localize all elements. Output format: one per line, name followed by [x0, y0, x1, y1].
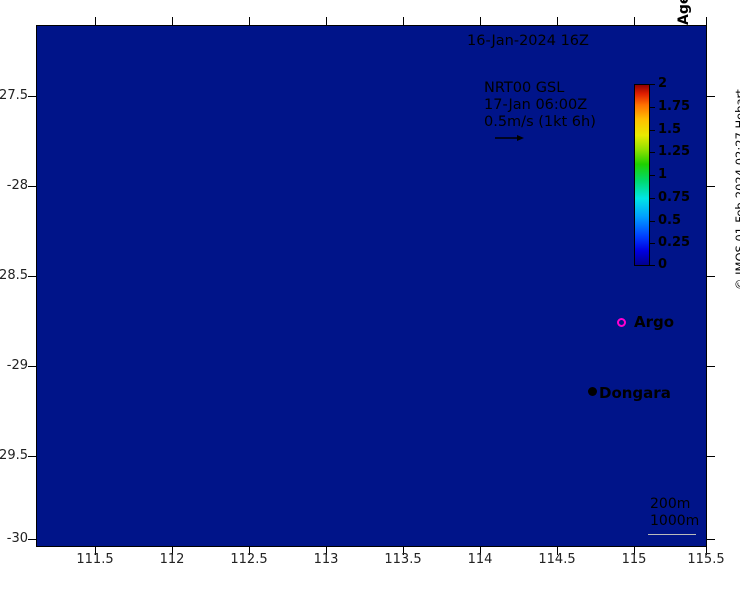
y-tick-right [707, 366, 715, 367]
x-axis-label-6: 114.5 [522, 553, 592, 566]
colorbar-tick [650, 265, 655, 266]
x-axis-label-2: 112.5 [214, 553, 284, 566]
y-axis-label-1: -28 [0, 179, 28, 192]
depth-contour-underline [648, 534, 696, 535]
y-axis-label-4: -29.5 [0, 449, 28, 462]
colorbar-label-0p75: 0.75 [658, 191, 690, 204]
y-tick [28, 366, 36, 367]
y-axis-label-3: -29 [0, 359, 28, 372]
map-plot-area[interactable] [36, 25, 707, 547]
colorbar-tick [650, 221, 655, 222]
colorbar-label-2: 2 [658, 77, 667, 90]
colorbar-label-1: 1 [658, 168, 667, 181]
colorbar-label-0p25: 0.25 [658, 236, 690, 249]
argo-label: Argo [634, 313, 674, 331]
x-axis-label-3: 113 [291, 553, 361, 566]
x-tick-top [557, 17, 558, 25]
y-tick-right [707, 186, 715, 187]
colorbar-tick [650, 198, 655, 199]
x-axis-label-5: 114 [445, 553, 515, 566]
colorbar-label-1p75: 1.75 [658, 100, 690, 113]
colorbar-tick [650, 84, 655, 85]
observation-datetime-label: 16-Jan-2024 16Z [467, 33, 589, 50]
dongara-label: Dongara [599, 384, 671, 402]
colorbar-tick [650, 152, 655, 153]
colorbar-label-0: 0 [658, 258, 667, 271]
x-tick-top [95, 17, 96, 25]
credit-text: © IMOS 01-Feb-2024 02:27 Hobart [733, 89, 740, 290]
x-axis-label-4: 113.5 [368, 553, 438, 566]
y-tick-right [707, 456, 715, 457]
colorbar-gradient [634, 84, 650, 266]
y-tick [28, 539, 36, 540]
argo-marker-icon[interactable] [617, 318, 626, 327]
y-tick-right [707, 276, 715, 277]
y-axis-label-5: -30 [0, 532, 28, 545]
colorbar-label-1p5: 1.5 [658, 123, 681, 136]
y-tick-right [707, 96, 715, 97]
y-axis-label-2: -28.5 [0, 269, 28, 282]
colorbar-title: Age (days) of filled SST (wrt latest) [676, 0, 692, 25]
x-tick-top [480, 17, 481, 25]
colorbar-tick [650, 243, 655, 244]
reference-vector-arrow-icon [494, 132, 524, 144]
x-tick-top [326, 17, 327, 25]
depth-contour-key: 200m 1000m [650, 496, 699, 529]
colorbar-label-1p25: 1.25 [658, 145, 690, 158]
colorbar-tick [650, 107, 655, 108]
x-tick-top [634, 17, 635, 25]
x-tick-top [706, 17, 707, 25]
figure-root: -27.5 -28 -28.5 -29 -29.5 -30 111.5 112 … [0, 0, 740, 592]
x-axis-label-7: 115 [599, 553, 669, 566]
y-tick [28, 276, 36, 277]
colorbar-tick [650, 130, 655, 131]
dongara-marker-icon[interactable] [588, 387, 597, 396]
colorbar-tick [650, 175, 655, 176]
x-tick-top [172, 17, 173, 25]
y-tick [28, 96, 36, 97]
x-axis-label-0: 111.5 [60, 553, 130, 566]
y-tick [28, 186, 36, 187]
sst-age-heatmap-canvas [37, 26, 706, 546]
model-info-block: NRT00 GSL 17-Jan 06:00Z 0.5m/s (1kt 6h) [484, 80, 596, 131]
colorbar[interactable]: 2 1.75 1.5 1.25 1 0.75 0.5 0.25 0 [634, 84, 650, 266]
y-axis-label-0: -27.5 [0, 89, 28, 102]
colorbar-label-0p5: 0.5 [658, 214, 681, 227]
x-tick-top [403, 17, 404, 25]
x-axis-label-8: 115.5 [671, 553, 740, 566]
y-tick [28, 456, 36, 457]
x-axis-label-1: 112 [137, 553, 207, 566]
y-tick-right [707, 539, 715, 540]
x-tick-top [249, 17, 250, 25]
